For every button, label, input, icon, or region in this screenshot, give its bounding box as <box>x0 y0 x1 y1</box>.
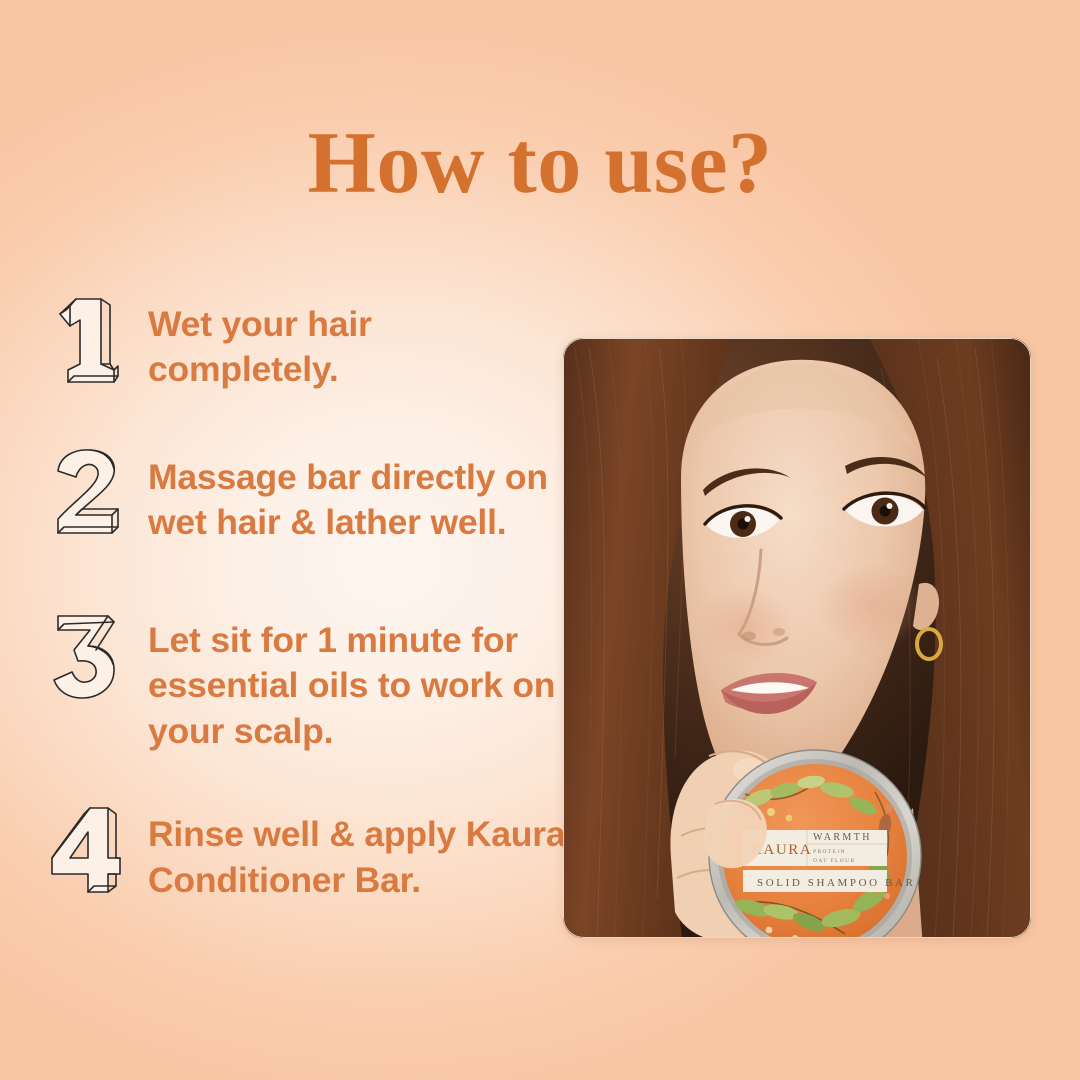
svg-text:OAT FLOUR: OAT FLOUR <box>813 858 856 864</box>
list-item-label: Massage bar directly on wet hair & lathe… <box>148 441 566 546</box>
list-item: Rinse well & apply Kaura Conditioner Bar… <box>46 798 566 903</box>
svg-text:WARMTH: WARMTH <box>813 832 872 843</box>
list-item: Massage bar directly on wet hair & lathe… <box>46 441 566 546</box>
list-item: Let sit for 1 minute for essential oils … <box>46 604 566 754</box>
list-item-label: Let sit for 1 minute for essential oils … <box>148 604 566 754</box>
svg-text:SOLID SHAMPOO BAR: SOLID SHAMPOO BAR <box>757 877 916 889</box>
list-item-label: Wet your hair completely. <box>148 288 566 393</box>
steps-list: Wet your hair completely. Massage bar di… <box>46 288 566 903</box>
numeral-4-outline-3d-icon <box>46 800 132 896</box>
page-title: How to use? <box>0 118 1080 210</box>
list-item: Wet your hair completely. <box>46 288 566 393</box>
numeral-1-outline-3d-icon <box>46 290 132 386</box>
list-item-label: Rinse well & apply Kaura Conditioner Bar… <box>148 798 566 903</box>
how-to-use-poster: How to use? Wet your hair completely. <box>0 0 1080 1080</box>
numeral-3-outline-3d-icon <box>46 606 132 702</box>
svg-text:PROTEIN: PROTEIN <box>813 849 846 855</box>
model-holding-shampoo-bar-photo: KAURA WARMTH PROTEIN OAT FLOUR SOLID SHA… <box>563 338 1031 938</box>
numeral-2-outline-3d-icon <box>46 443 132 539</box>
